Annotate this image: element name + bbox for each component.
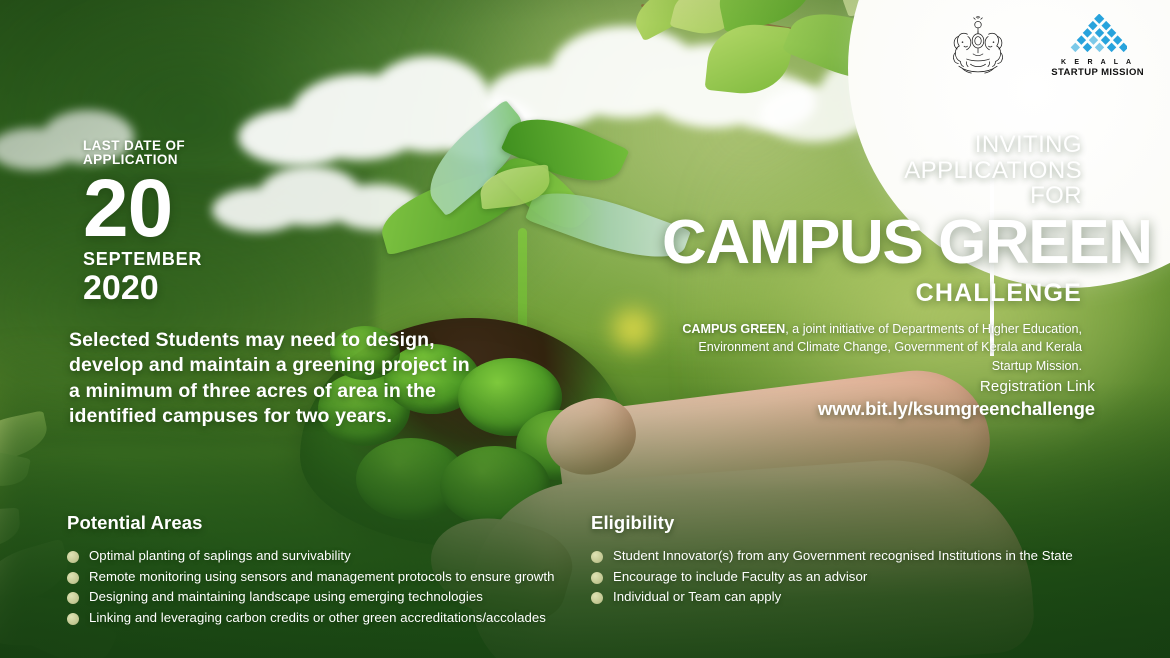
campus-green-poster: K E R A L A STARTUP MISSION LAST DATE OF…	[0, 0, 1170, 658]
lead-line-3: a minimum of three acres of area in the	[69, 379, 499, 404]
page-subtitle: CHALLENGE	[662, 279, 1082, 308]
list-item: Remote monitoring using sensors and mana…	[67, 567, 587, 588]
lead-line-2: develop and maintain a greening project …	[69, 353, 499, 378]
list-item: Designing and maintaining landscape usin…	[67, 587, 587, 608]
inviting-line-3: FOR	[662, 183, 1082, 209]
last-date-block: LAST DATE OF APPLICATION 20 SEPTEMBER 20…	[83, 139, 202, 305]
list-item: Encourage to include Faculty as an advis…	[591, 567, 1111, 588]
registration-label: Registration Link	[818, 378, 1095, 395]
registration-link[interactable]: www.bit.ly/ksumgreenchallenge	[818, 398, 1095, 420]
eligibility-list: Student Innovator(s) from any Government…	[591, 546, 1111, 608]
last-date-day: 20	[83, 173, 202, 245]
last-date-month: SEPTEMBER	[83, 249, 202, 270]
initiative-blurb-bold: CAMPUS GREEN	[682, 322, 785, 336]
lead-line-1: Selected Students may need to design,	[69, 328, 499, 353]
lead-line-4: identified campuses for two years.	[69, 404, 499, 429]
list-item: Individual or Team can apply	[591, 587, 1111, 608]
last-date-year: 2020	[83, 271, 202, 305]
list-item: Student Innovator(s) from any Government…	[591, 546, 1111, 567]
inviting-applications-for: INVITING APPLICATIONS FOR	[662, 132, 1082, 209]
potential-areas-section: Potential Areas Optimal planting of sapl…	[67, 512, 587, 628]
kerala-startup-mission-logo	[1069, 14, 1127, 56]
inviting-line-1: INVITING	[662, 132, 1082, 158]
headline-block: INVITING APPLICATIONS FOR CAMPUS GREEN C…	[662, 132, 1082, 375]
list-item: Optimal planting of saplings and surviva…	[67, 546, 587, 567]
list-item: Linking and leveraging carbon credits or…	[67, 608, 587, 629]
kerala-government-emblem	[939, 15, 1017, 77]
ksum-name-label: STARTUP MISSION	[1051, 68, 1144, 78]
registration-block: Registration Link www.bit.ly/ksumgreench…	[818, 378, 1095, 420]
ksum-kerala-label: K E R A L A	[1061, 59, 1134, 66]
lead-paragraph: Selected Students may need to design, de…	[69, 328, 499, 429]
initiative-blurb: CAMPUS GREEN, a joint initiative of Depa…	[662, 320, 1082, 376]
inviting-line-2: APPLICATIONS	[662, 158, 1082, 184]
page-title: CAMPUS GREEN	[662, 213, 1082, 273]
logo-group: K E R A L A STARTUP MISSION	[939, 14, 1144, 78]
potential-areas-list: Optimal planting of saplings and surviva…	[67, 546, 587, 628]
eligibility-heading: Eligibility	[591, 512, 1111, 534]
eligibility-section: Eligibility Student Innovator(s) from an…	[591, 512, 1111, 608]
potential-areas-heading: Potential Areas	[67, 512, 587, 534]
ksum-logo: K E R A L A STARTUP MISSION	[1051, 14, 1144, 78]
